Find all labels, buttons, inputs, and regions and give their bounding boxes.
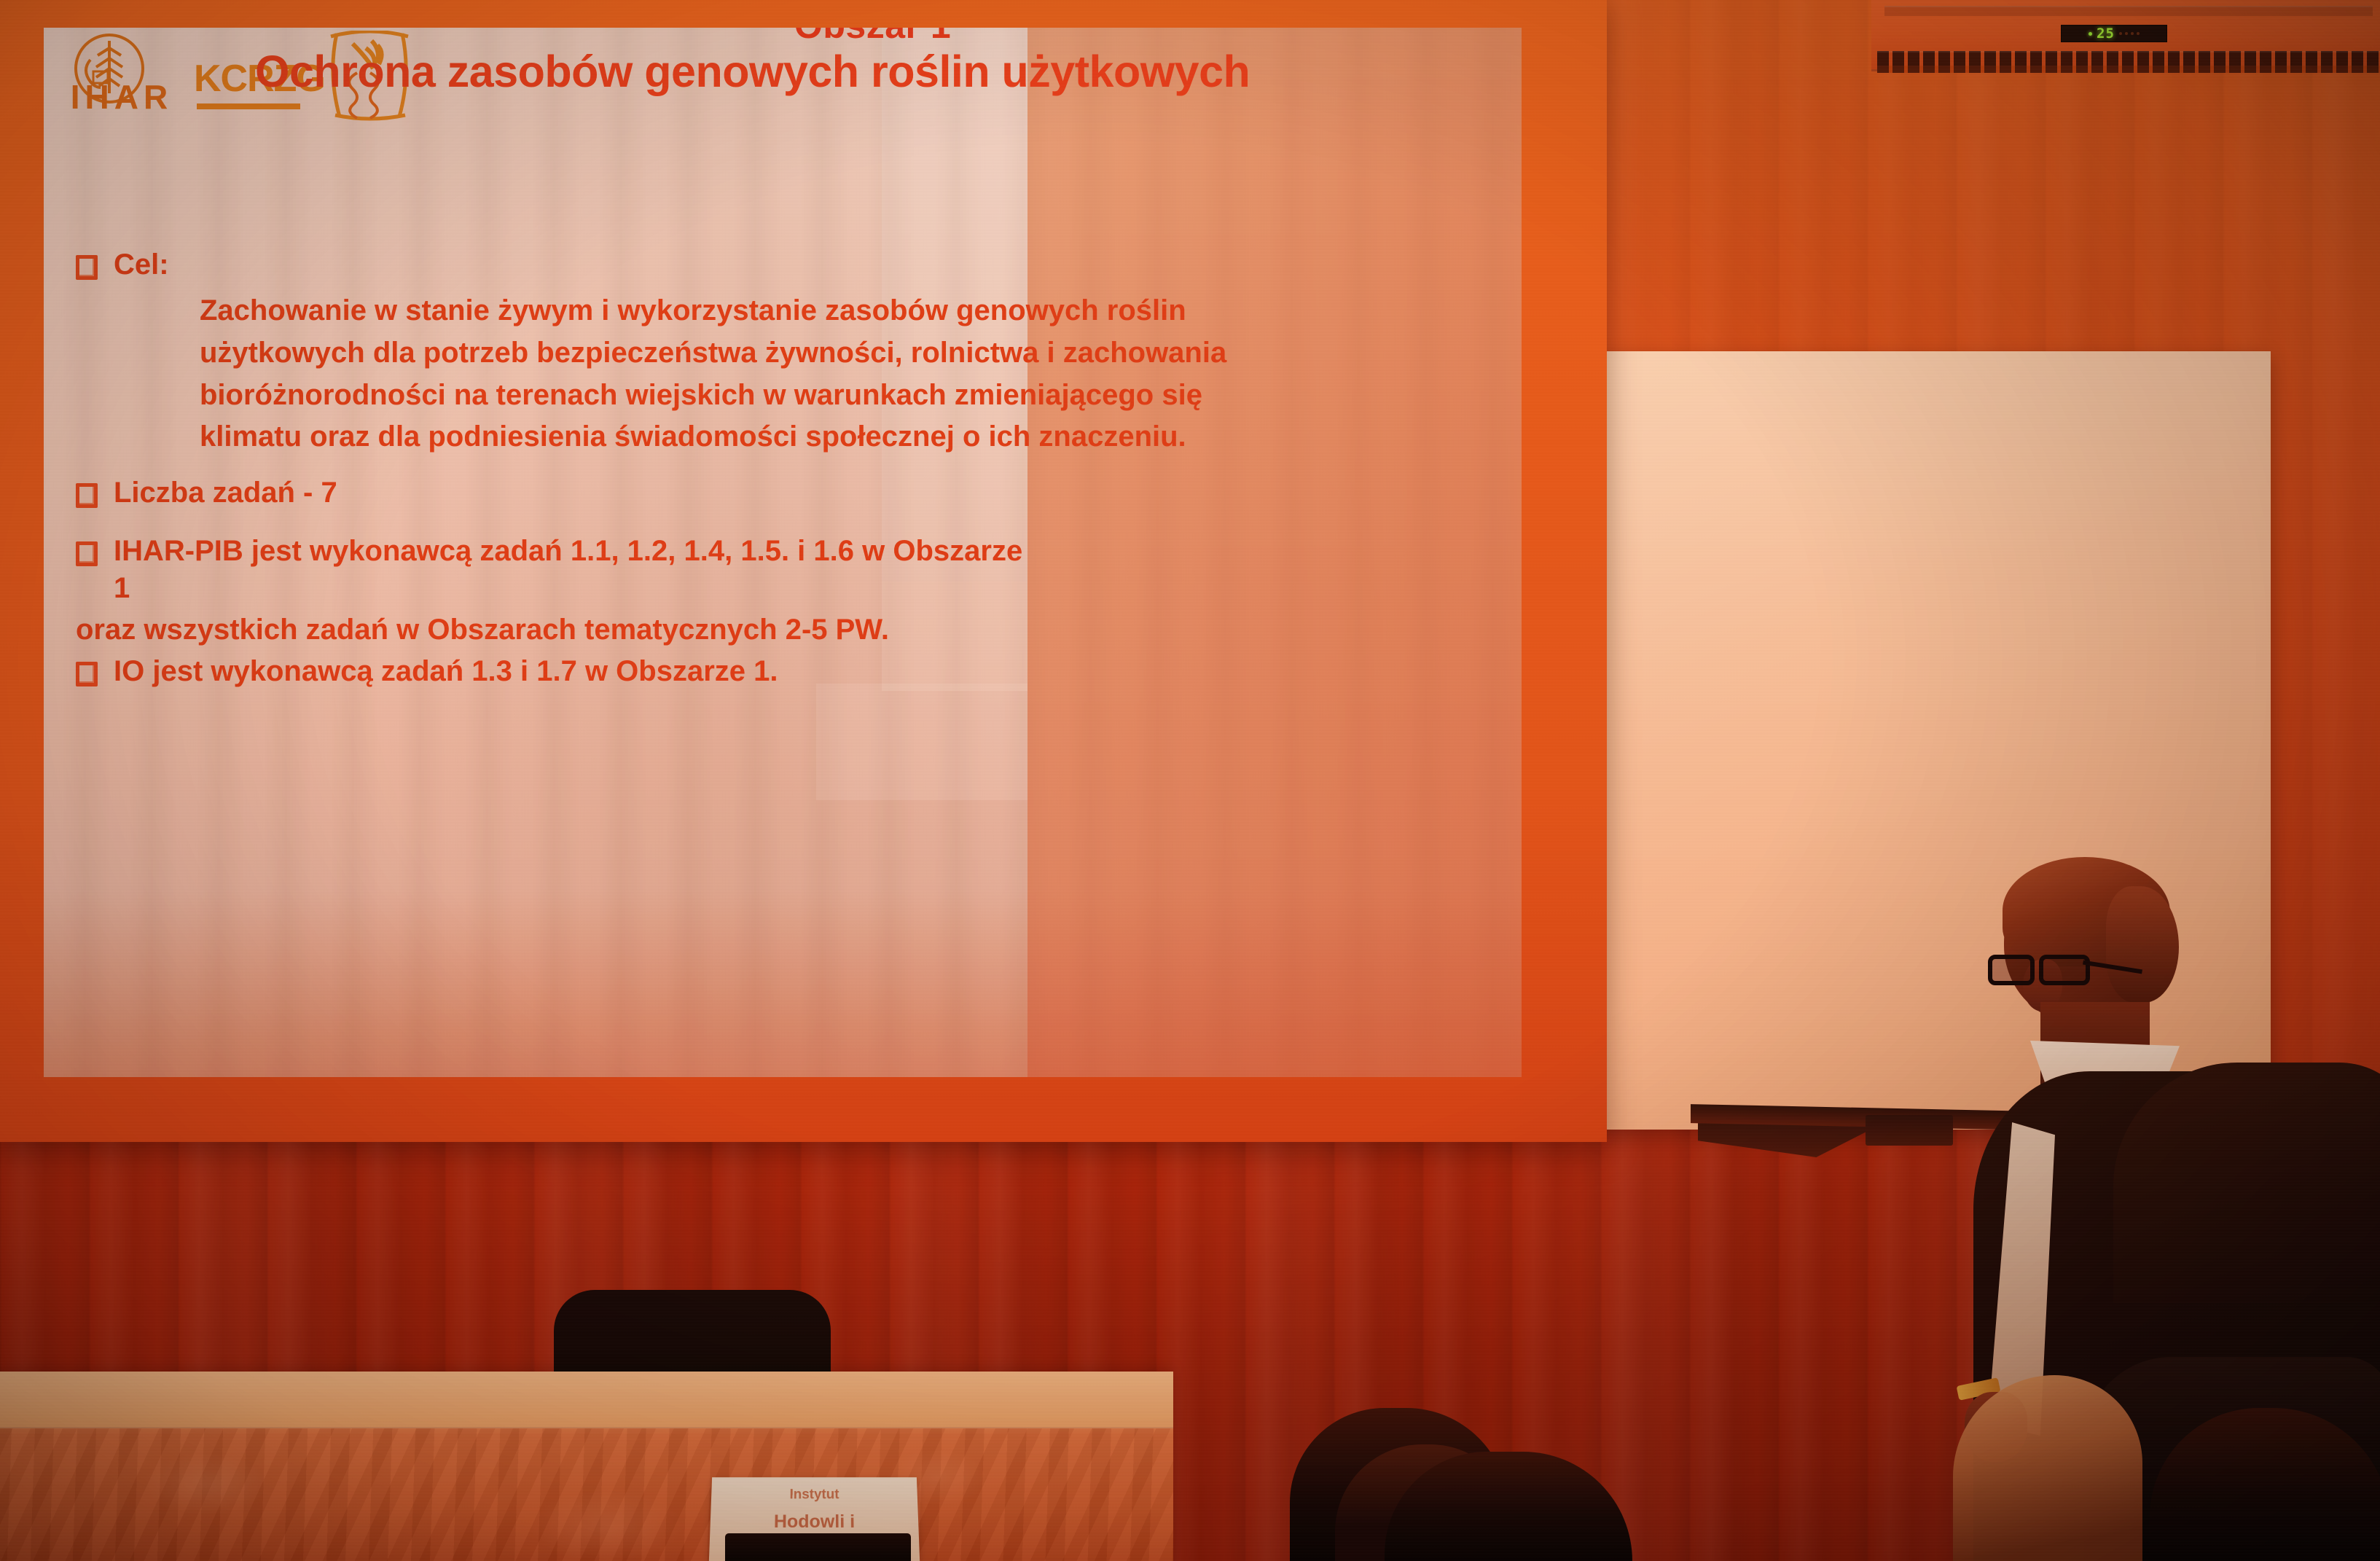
- slide-bullet-ihar-pib: IHAR-PIB jest wykonawcą zadań 1.1, 1.2, …: [76, 533, 1038, 606]
- slide-bullet-label: Liczba zadań - 7: [114, 474, 337, 511]
- presenter-hair-back: [2106, 886, 2179, 1003]
- slide-bullet-io: IO jest wykonawcą zadań 1.3 i 1.7 w Obsz…: [76, 653, 1038, 689]
- paragraph-line: użytkowych dla potrzeb bezpieczeństwa ży…: [200, 332, 1009, 375]
- paragraph-line: klimatu oraz dla podniesienia świadomośc…: [200, 416, 1009, 458]
- ac-power-led-icon: [2089, 32, 2092, 36]
- eyeglass-lens-left: [1988, 955, 2035, 985]
- ac-top-slit: [1884, 6, 2373, 16]
- presenter-table: [0, 1372, 1173, 1561]
- ac-indicator-dots-icon: [2119, 32, 2140, 35]
- tablecloth-top-band: [0, 1372, 1173, 1428]
- ac-vent-louvers-secondary: [1877, 66, 2380, 73]
- spacer: [76, 514, 1038, 533]
- ac-temperature-value: 25: [2097, 26, 2115, 42]
- screen-bottom-shadow: [44, 888, 1522, 1077]
- tablecloth-damask-skirt: [0, 1428, 1173, 1561]
- table-laptop-device: [725, 1533, 911, 1561]
- ihar-logo-text: IHAR: [61, 80, 182, 114]
- slide-bullet-label: IHAR-PIB jest wykonawcą zadań 1.1, 1.2, …: [114, 533, 1038, 606]
- presenter-shoulder: [2113, 1063, 2380, 1303]
- slide-title: Ochrona zasobów genowych roślin użytkowy…: [255, 48, 1027, 96]
- square-bullet-icon: [76, 483, 98, 508]
- conference-room-photo: 25 Obszar 1: [0, 0, 2380, 1561]
- square-bullet-icon: [76, 255, 98, 280]
- slide-section-label: Obszar 1: [794, 28, 951, 47]
- ihar-logo-icon: IHAR: [61, 31, 182, 122]
- projection-screen-surface: Obszar 1 IHAR KCRZG: [44, 28, 1522, 1077]
- paragraph-line: bioróżnorodności na terenach wiejskich w…: [200, 375, 1009, 417]
- slide-bullet-cel: Cel:: [76, 246, 1038, 283]
- air-conditioner-unit: 25: [1871, 0, 2380, 71]
- slide-bullet-label: Cel:: [114, 246, 169, 283]
- slide-goal-paragraph: Zachowanie w stanie żywym i wykorzystani…: [200, 290, 1009, 458]
- sign-line-2: Hodowli i: [710, 1511, 918, 1533]
- projection-screen-frame: Obszar 1 IHAR KCRZG: [0, 0, 1607, 1142]
- sign-line-1: Instytut: [711, 1487, 917, 1503]
- slide-continuation-line: oraz wszystkich zadań w Obszarach tematy…: [76, 611, 1038, 649]
- square-bullet-icon: [76, 662, 98, 686]
- eyeglass-lens-right: [2039, 955, 2090, 985]
- slide-bullet-liczba-zadan: Liczba zadań - 7: [76, 474, 1038, 511]
- square-bullet-icon: [76, 541, 98, 566]
- ac-display-panel: 25: [2061, 25, 2167, 42]
- slide-body: Cel: Zachowanie w stanie żywym i wykorzy…: [76, 246, 1038, 692]
- eyeglasses-icon: [1988, 955, 2090, 988]
- paragraph-line: Zachowanie w stanie żywym i wykorzystani…: [200, 290, 1009, 332]
- slide-bullet-label: IO jest wykonawcą zadań 1.3 i 1.7 w Obsz…: [114, 653, 778, 689]
- kcrzg-logo-underline: [197, 103, 300, 109]
